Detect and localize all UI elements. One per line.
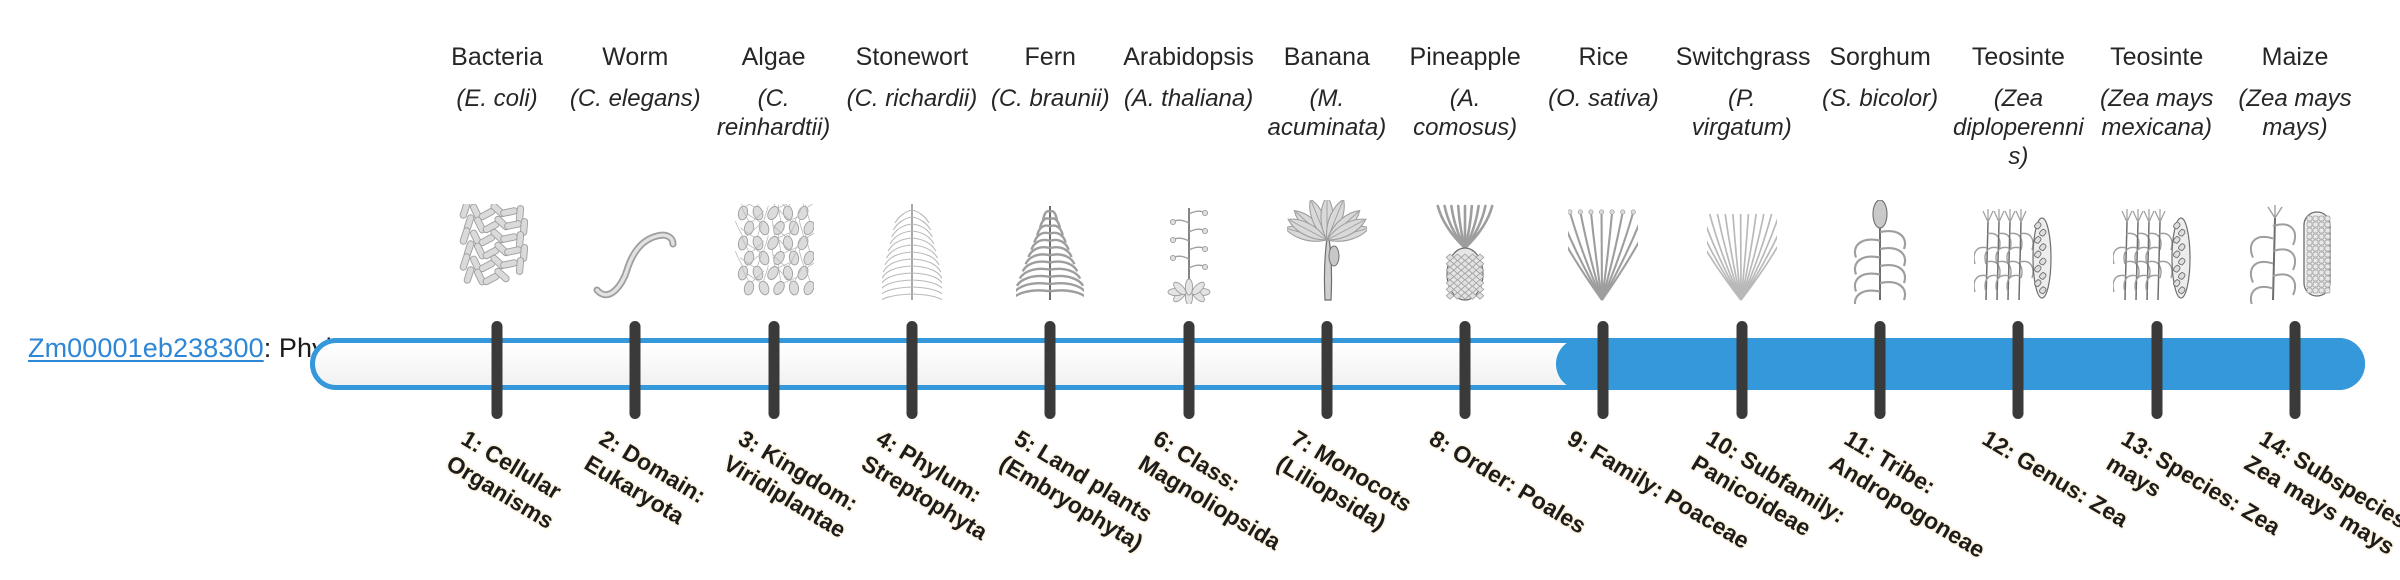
species-common-name: Pineapple <box>1399 42 1531 72</box>
species-column-rice-9: Rice(O. sativa) <box>1537 0 1669 312</box>
species-column-stonewort-4: Stonewort(C. richardii) <box>846 0 978 312</box>
gene-label-separator: : <box>264 333 279 363</box>
banana-palm-icon <box>1261 196 1393 304</box>
teosinte-mexicana-icon <box>2091 196 2223 304</box>
fern-frond-icon <box>984 196 1116 304</box>
species-scientific-name: (A. thaliana) <box>1123 84 1255 113</box>
species-column-bacteria-1: Bacteria(E. coli) <box>431 0 563 312</box>
species-common-name: Fern <box>984 42 1116 72</box>
species-common-name: Sorghum <box>1814 42 1946 72</box>
species-common-name: Worm <box>569 42 701 72</box>
species-common-name: Banana <box>1261 42 1393 72</box>
species-scientific-name: (Zea mays mexicana) <box>2091 84 2223 142</box>
species-scientific-name: (P. virgatum) <box>1676 84 1808 142</box>
species-common-name: Teosinte <box>1952 42 2084 72</box>
teosinte-diploperennis-icon <box>1952 196 2084 304</box>
green-algae-cells-icon <box>708 196 840 304</box>
timeline-filled-segment <box>1556 338 2365 390</box>
species-scientific-name: (A. comosus) <box>1399 84 1531 142</box>
species-column-switchgrass-10: Switchgrass(P. virgatum) <box>1676 0 1808 312</box>
species-common-name: Maize <box>2229 42 2361 72</box>
species-common-name: Teosinte <box>2091 42 2223 72</box>
species-column-pineapple-8: Pineapple(A. comosus) <box>1399 0 1531 312</box>
rice-plant-icon <box>1537 196 1669 304</box>
species-column-sorghum-11: Sorghum(S. bicolor) <box>1814 0 1946 312</box>
species-column-algae-3: Algae(C. reinhardtii) <box>708 0 840 312</box>
species-common-name: Stonewort <box>846 42 978 72</box>
bacteria-rods-icon <box>431 196 563 304</box>
species-column-banana-7: Banana(M. acuminata) <box>1261 0 1393 312</box>
species-header-row: Bacteria(E. coli)Worm(C. elegans)Algae(C… <box>460 0 2390 312</box>
species-scientific-name: (Zea mays mays) <box>2229 84 2361 142</box>
species-common-name: Switchgrass <box>1676 42 1808 72</box>
species-common-name: Rice <box>1537 42 1669 72</box>
species-scientific-name: (C. braunii) <box>984 84 1116 113</box>
species-column-teosinte-13: Teosinte(Zea mays mexicana) <box>2091 0 2223 312</box>
species-scientific-name: (M. acuminata) <box>1261 84 1393 142</box>
species-scientific-name: (S. bicolor) <box>1814 84 1946 113</box>
sorghum-plant-icon <box>1814 196 1946 304</box>
species-scientific-name: (C. richardii) <box>846 84 978 113</box>
stonewort-alga-icon <box>846 196 978 304</box>
species-scientific-name: (C. elegans) <box>569 84 701 113</box>
species-common-name: Arabidopsis <box>1123 42 1255 72</box>
arabidopsis-plant-icon <box>1123 196 1255 304</box>
gene-accession-link[interactable]: Zm00001eb238300 <box>28 333 264 363</box>
phylostratigraphy-timeline-figure: Zm00001eb238300: Phylostratum 9 Bacteria… <box>0 0 2400 580</box>
species-column-maize-14: Maize(Zea mays mays) <box>2229 0 2361 312</box>
species-column-fern-5: Fern(C. braunii) <box>984 0 1116 312</box>
species-column-arabidopsis-6: Arabidopsis(A. thaliana) <box>1123 0 1255 312</box>
species-common-name: Algae <box>708 42 840 72</box>
species-common-name: Bacteria <box>431 42 563 72</box>
pineapple-fruit-icon <box>1399 196 1531 304</box>
phylostratum-timeline-bar <box>310 338 2365 390</box>
species-scientific-name: (O. sativa) <box>1537 84 1669 113</box>
nematode-worm-icon <box>569 196 701 304</box>
species-scientific-name: (E. coli) <box>431 84 563 113</box>
species-scientific-name: (C. reinhardtii) <box>708 84 840 142</box>
switchgrass-clump-icon <box>1676 196 1808 304</box>
species-column-teosinte-12: Teosinte(Zea diploperennis) <box>1952 0 2084 312</box>
species-column-worm-2: Worm(C. elegans) <box>569 0 701 312</box>
species-scientific-name: (Zea diploperennis) <box>1952 84 2084 171</box>
maize-plant-ear-icon <box>2229 196 2361 304</box>
